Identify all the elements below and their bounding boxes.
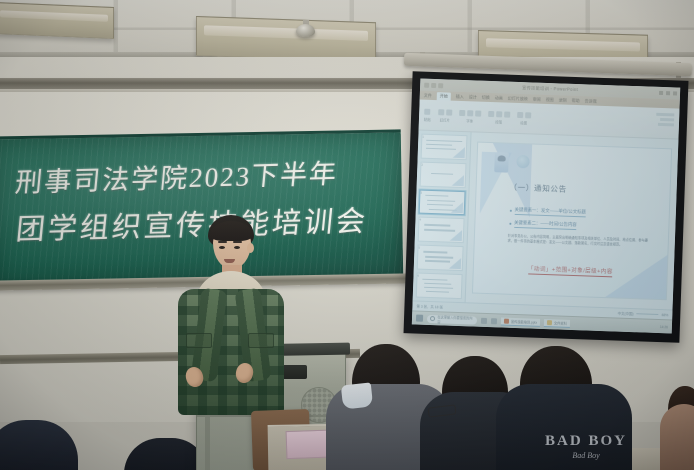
current-slide[interactable]: （一）通知公告 关键要素一：发文——单位/公文标题 关键要素二：——时间/公告内… — [472, 142, 672, 300]
shapes-icon[interactable] — [517, 111, 523, 117]
ribbon-group-paste[interactable]: 粘贴 — [424, 108, 431, 121]
folder-icon — [547, 320, 552, 325]
replace-icon[interactable] — [660, 118, 674, 121]
ribbon-tab-1[interactable]: 开始 — [437, 92, 451, 100]
zoom-level[interactable]: 68% — [661, 313, 668, 317]
jacket-print-line-2: Bad Boy — [540, 451, 632, 460]
face-mask-icon — [341, 382, 373, 409]
slide-number: 4 — [419, 218, 421, 222]
thumb-line — [431, 173, 453, 175]
slide-paragraph: 针对事务办公，公告内容简明，主题突出明确通知事项及相关单位、人员及时间、地点位置… — [508, 234, 653, 249]
thumb-line — [424, 224, 450, 226]
ribbon-group-label: 段落 — [495, 119, 502, 124]
ribbon-group-label: 幻灯片 — [440, 117, 450, 122]
ribbon-group-drawing[interactable]: 绘图 — [517, 111, 531, 124]
ribbon-group-font[interactable]: 字体 — [459, 109, 481, 123]
window-controls[interactable] — [659, 91, 677, 96]
thumb-line — [424, 287, 453, 289]
audience-foreground-left — [0, 420, 78, 470]
slide-thumbnail-panel[interactable]: 1 2 3 — [413, 131, 472, 303]
slide-number: 6 — [417, 274, 419, 278]
light-fixture-1 — [0, 2, 114, 39]
speaker-person — [172, 215, 290, 415]
audience-body-4 — [660, 404, 694, 470]
light-fixture-2 — [196, 16, 376, 62]
thumb-line — [425, 260, 450, 262]
slide-number: 5 — [418, 246, 420, 250]
search-icon — [430, 316, 436, 322]
ribbon-group-icons[interactable] — [488, 110, 510, 117]
powerpoint-icon — [504, 318, 509, 323]
taskbar-search-box[interactable]: 在这里输入你要搜索的内容 — [427, 314, 477, 324]
maximize-icon[interactable] — [666, 91, 670, 95]
ribbon-tab-10[interactable]: 帮助 — [572, 97, 580, 103]
fluorescent-tube — [486, 39, 641, 52]
classroom-photo-scene: 刑事司法学院2023下半年 团学组织宣传技能培训会 宣传技能培训 - Power… — [0, 0, 694, 470]
ribbon-group-icons[interactable] — [425, 108, 431, 114]
fluorescent-tube — [0, 10, 108, 22]
minimize-icon[interactable] — [659, 91, 663, 95]
slide-thumbnail[interactable]: 1 — [421, 134, 468, 160]
thumb-decor-triangle — [449, 258, 461, 269]
arrange-icon[interactable] — [525, 112, 531, 118]
align-center-icon[interactable] — [496, 111, 502, 117]
thumb-decor-triangle — [453, 147, 465, 158]
speaker-eye-left — [219, 246, 225, 249]
slide-logo-icon — [516, 155, 529, 168]
thumb-line — [423, 251, 447, 253]
powerpoint-body: 1 2 3 — [413, 131, 679, 310]
taskbar-app-powerpoint[interactable]: 宣传技能培训.pptx — [501, 317, 540, 326]
speaker-jacket-pocket-left — [186, 333, 212, 348]
ribbon-tab-6[interactable]: 幻灯片放映 — [508, 95, 528, 102]
thumb-line — [426, 291, 449, 293]
file-explorer-icon[interactable] — [491, 318, 497, 324]
zoom-slider[interactable] — [637, 313, 659, 315]
select-icon[interactable] — [658, 123, 674, 127]
slide-counter: 第 3 张，共 18 张 — [416, 304, 443, 310]
projection-screen-surface: 宣传技能培训 - PowerPoint 文件 开始 插入 设计 切换 动画 幻灯… — [412, 79, 680, 334]
new-slide-icon[interactable] — [438, 109, 444, 115]
taskbar-app-label: 宣传技能培训.pptx — [511, 318, 537, 324]
slide-badge-graphic — [495, 153, 510, 173]
thumb-decor-triangle — [451, 202, 463, 213]
ribbon-group-label: 粘贴 — [424, 116, 431, 121]
search-placeholder: 在这里输入你要搜索的内容 — [437, 314, 474, 325]
bullets-icon[interactable] — [504, 111, 510, 117]
slide-bullet-2: 关键要素二：——时间/公告内容 — [514, 220, 577, 230]
thumb-line — [422, 279, 447, 281]
fluorescent-tube — [204, 26, 368, 42]
jacket-print-line-1: BAD BOY — [540, 433, 632, 450]
underline-icon[interactable] — [475, 110, 481, 116]
slide-canvas-area[interactable]: （一）通知公告 关键要素一：发文——单位/公文标题 关键要素二：——时间/公告内… — [466, 132, 679, 309]
slide-thumbnail[interactable]: 4 — [418, 217, 465, 243]
thumb-line — [426, 140, 462, 142]
speaker-eyebrow-right — [233, 241, 242, 243]
slide-thumbnail[interactable]: 2 — [420, 161, 467, 187]
ribbon-tab-8[interactable]: 视图 — [546, 96, 554, 102]
ribbon-tab-0[interactable]: 文件 — [424, 92, 432, 98]
ribbon-tab-9[interactable]: 录制 — [559, 97, 567, 103]
speaker-eye-right — [234, 246, 240, 249]
slide-number: 3 — [420, 190, 422, 194]
thumb-line — [427, 204, 453, 206]
system-tray[interactable]: 14:26 — [660, 325, 668, 329]
speaker-jacket-pocket-right — [248, 333, 274, 348]
ribbon-group-icons[interactable] — [438, 109, 452, 115]
ribbon-group-slides[interactable]: 幻灯片 — [438, 109, 452, 122]
start-button-icon[interactable] — [416, 315, 423, 322]
layout-icon[interactable] — [446, 109, 452, 115]
slide-number: 2 — [421, 162, 423, 166]
zoom-control[interactable]: 中文(中国) 68% — [618, 311, 669, 318]
projection-screen-frame: 宣传技能培训 - PowerPoint 文件 开始 插入 设计 切换 动画 幻灯… — [404, 71, 689, 342]
paste-icon[interactable] — [425, 108, 431, 114]
thumb-line — [426, 144, 452, 146]
ribbon-group-label: 字体 — [466, 118, 473, 123]
align-left-icon[interactable] — [488, 110, 494, 116]
speaker-eyebrow-left — [218, 241, 227, 243]
ribbon-group-icons[interactable] — [517, 111, 531, 117]
thumb-line — [426, 148, 456, 150]
taskbar-app-folder[interactable]: 文件资料 — [544, 319, 570, 328]
dome-security-camera-icon — [296, 24, 315, 37]
ribbon-group-label: 绘图 — [520, 120, 527, 125]
jacket-back-print: BAD BOY Bad Boy — [540, 433, 632, 460]
slide-title: （一）通知公告 — [509, 181, 567, 194]
powerpoint-window: 宣传技能培训 - PowerPoint 文件 开始 插入 设计 切换 动画 幻灯… — [412, 79, 680, 334]
find-icon[interactable] — [656, 113, 674, 117]
slide-formula-highlight: 「动词」+范围+对象/层级+内容 — [528, 264, 613, 277]
thumb-decor-triangle — [450, 230, 462, 241]
ribbon-tab-2[interactable]: 插入 — [456, 93, 464, 99]
ribbon-group-icons[interactable] — [459, 109, 481, 116]
taskbar-app-label: 文件资料 — [554, 320, 567, 325]
task-view-icon[interactable] — [481, 317, 487, 323]
slide-thumbnail-selected[interactable]: 3 — [419, 189, 466, 215]
thumb-line — [425, 194, 448, 196]
slide-thumbnail[interactable]: 6 — [416, 273, 463, 299]
ribbon-tab-3[interactable]: 设计 — [469, 94, 477, 100]
ribbon-group-paragraph[interactable]: 段落 — [488, 110, 510, 124]
italic-icon[interactable] — [467, 110, 473, 116]
ribbon-tab-11[interactable]: 告诉我 — [585, 98, 597, 104]
slide-thumbnail[interactable]: 5 — [417, 245, 464, 271]
speaker-ear — [247, 243, 254, 253]
ribbon-right-commands[interactable] — [656, 113, 674, 127]
close-icon[interactable] — [673, 91, 677, 95]
bold-icon[interactable] — [459, 109, 465, 115]
ribbon-tab-4[interactable]: 切换 — [482, 94, 490, 100]
ribbon-tab-7[interactable]: 审阅 — [533, 96, 541, 102]
ribbon-tab-5[interactable]: 动画 — [495, 95, 503, 101]
language-indicator[interactable]: 中文(中国) — [618, 311, 634, 317]
podium-leg — [205, 417, 210, 470]
thumb-line — [424, 283, 451, 285]
tray-clock[interactable]: 14:26 — [660, 325, 668, 329]
thumb-decor-triangle — [452, 174, 464, 185]
slide-number: 1 — [422, 135, 424, 139]
